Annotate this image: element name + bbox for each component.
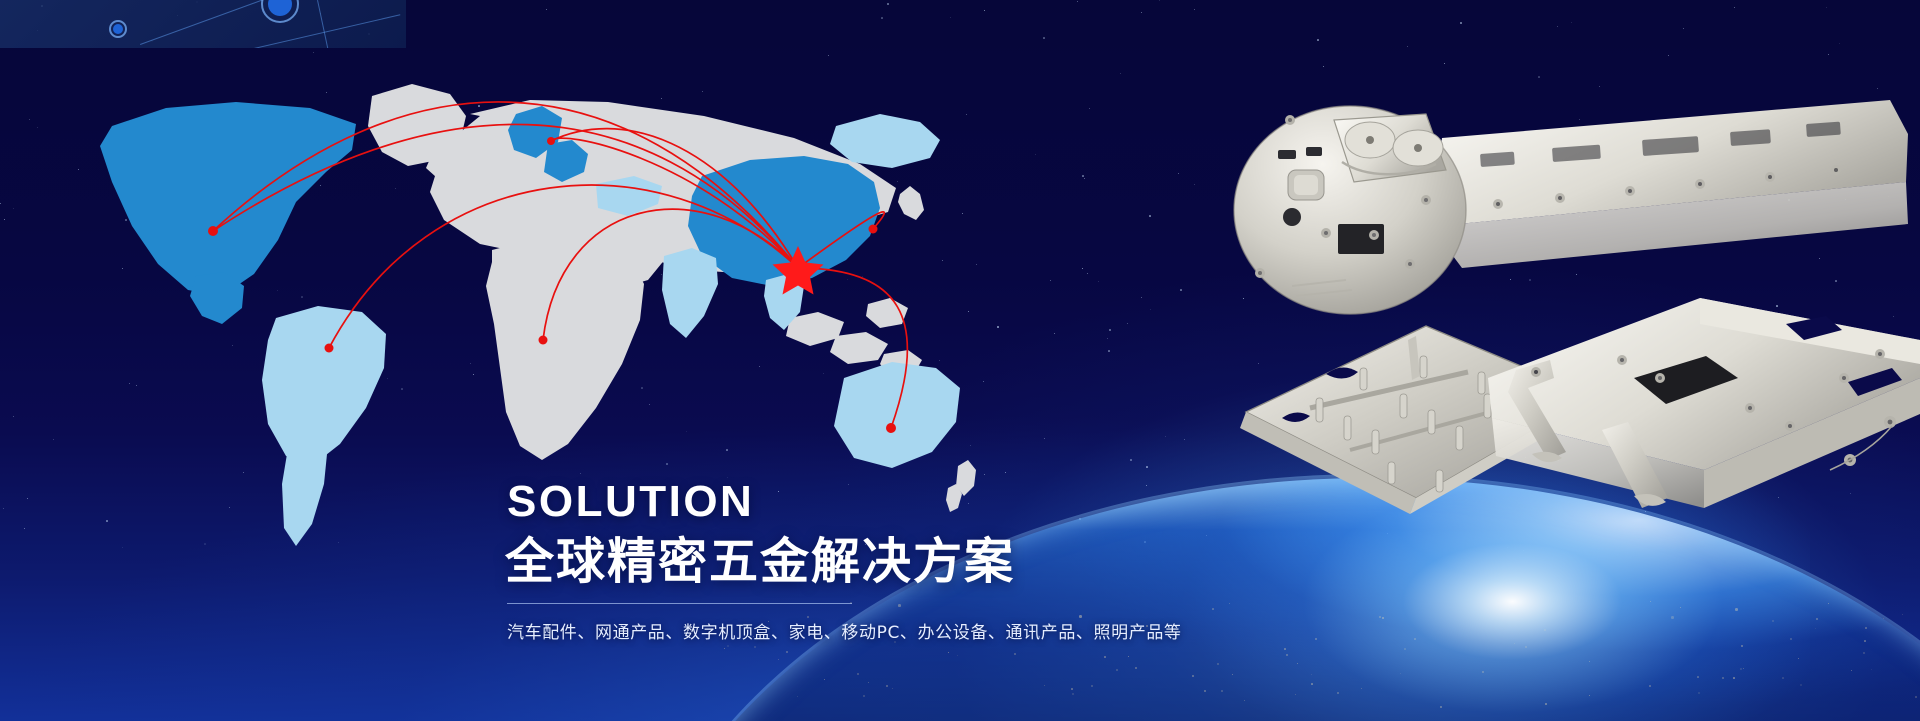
long-rail-bracket bbox=[1432, 100, 1908, 268]
hud-panel bbox=[0, 0, 406, 48]
eyebrow-solution: SOLUTION bbox=[507, 480, 1125, 524]
hud-node-small-dot bbox=[113, 24, 123, 34]
metal-parts-group bbox=[1230, 78, 1920, 548]
circular-disc-assembly bbox=[1234, 106, 1466, 314]
banner-subtitle: 汽车配件、网通产品、数字机顶盒、家电、移动PC、办公设备、通讯产品、照明产品等 bbox=[507, 618, 1125, 643]
banner-text-block: SOLUTION 全球精密五金解决方案 汽车配件、网通产品、数字机顶盒、家电、移… bbox=[505, 480, 1125, 643]
solution-banner: .land{fill:#d9dadd;} .hi{fill:#2389ce;} … bbox=[0, 0, 1920, 721]
title-divider bbox=[507, 603, 852, 604]
page-title: 全球精密五金解决方案 bbox=[505, 536, 1125, 589]
hud-line-3 bbox=[317, 0, 343, 48]
chassis-frame bbox=[1488, 298, 1920, 508]
